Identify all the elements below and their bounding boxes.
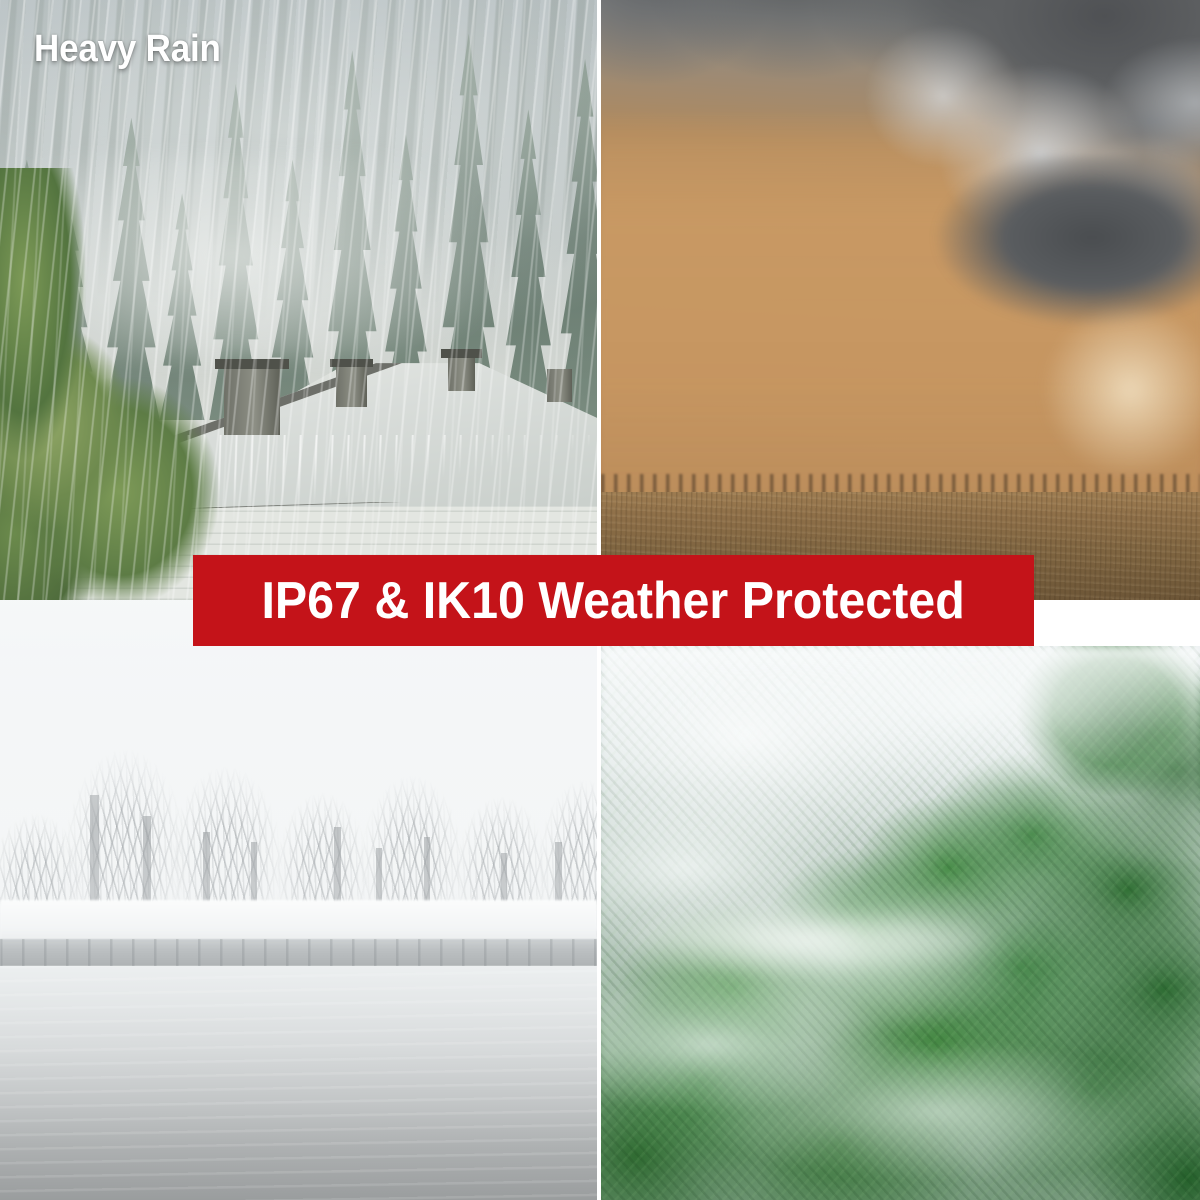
quadrant-fog-humidity: Fog/Humidity — [601, 646, 1200, 1200]
fog-wisp — [601, 890, 1044, 990]
banner-text: IP67 & IK10 Weather Protected — [262, 575, 965, 627]
heavy-rain-photo — [0, 0, 597, 600]
quadrant-heavy-rain: Heavy Rain — [0, 0, 597, 600]
rain-streaks — [0, 0, 597, 600]
dust-horizon-glow — [1008, 288, 1200, 492]
snow-wall-texture — [0, 939, 597, 966]
snow-ice-photo — [0, 600, 597, 1200]
dust-storm-photo — [601, 0, 1200, 600]
ice-sheen — [0, 966, 597, 1200]
quadrant-dust-storm: Dust Storm — [601, 0, 1200, 600]
fog-humidity-photo — [601, 646, 1200, 1200]
label-heavy-rain: Heavy Rain — [34, 30, 221, 68]
weather-protection-banner: IP67 & IK10 Weather Protected — [193, 555, 1034, 646]
quadrant-snow-ice: Snow/Ice — [0, 600, 597, 1200]
weather-protection-collage: Heavy Rain Dust Storm — [0, 0, 1200, 1200]
